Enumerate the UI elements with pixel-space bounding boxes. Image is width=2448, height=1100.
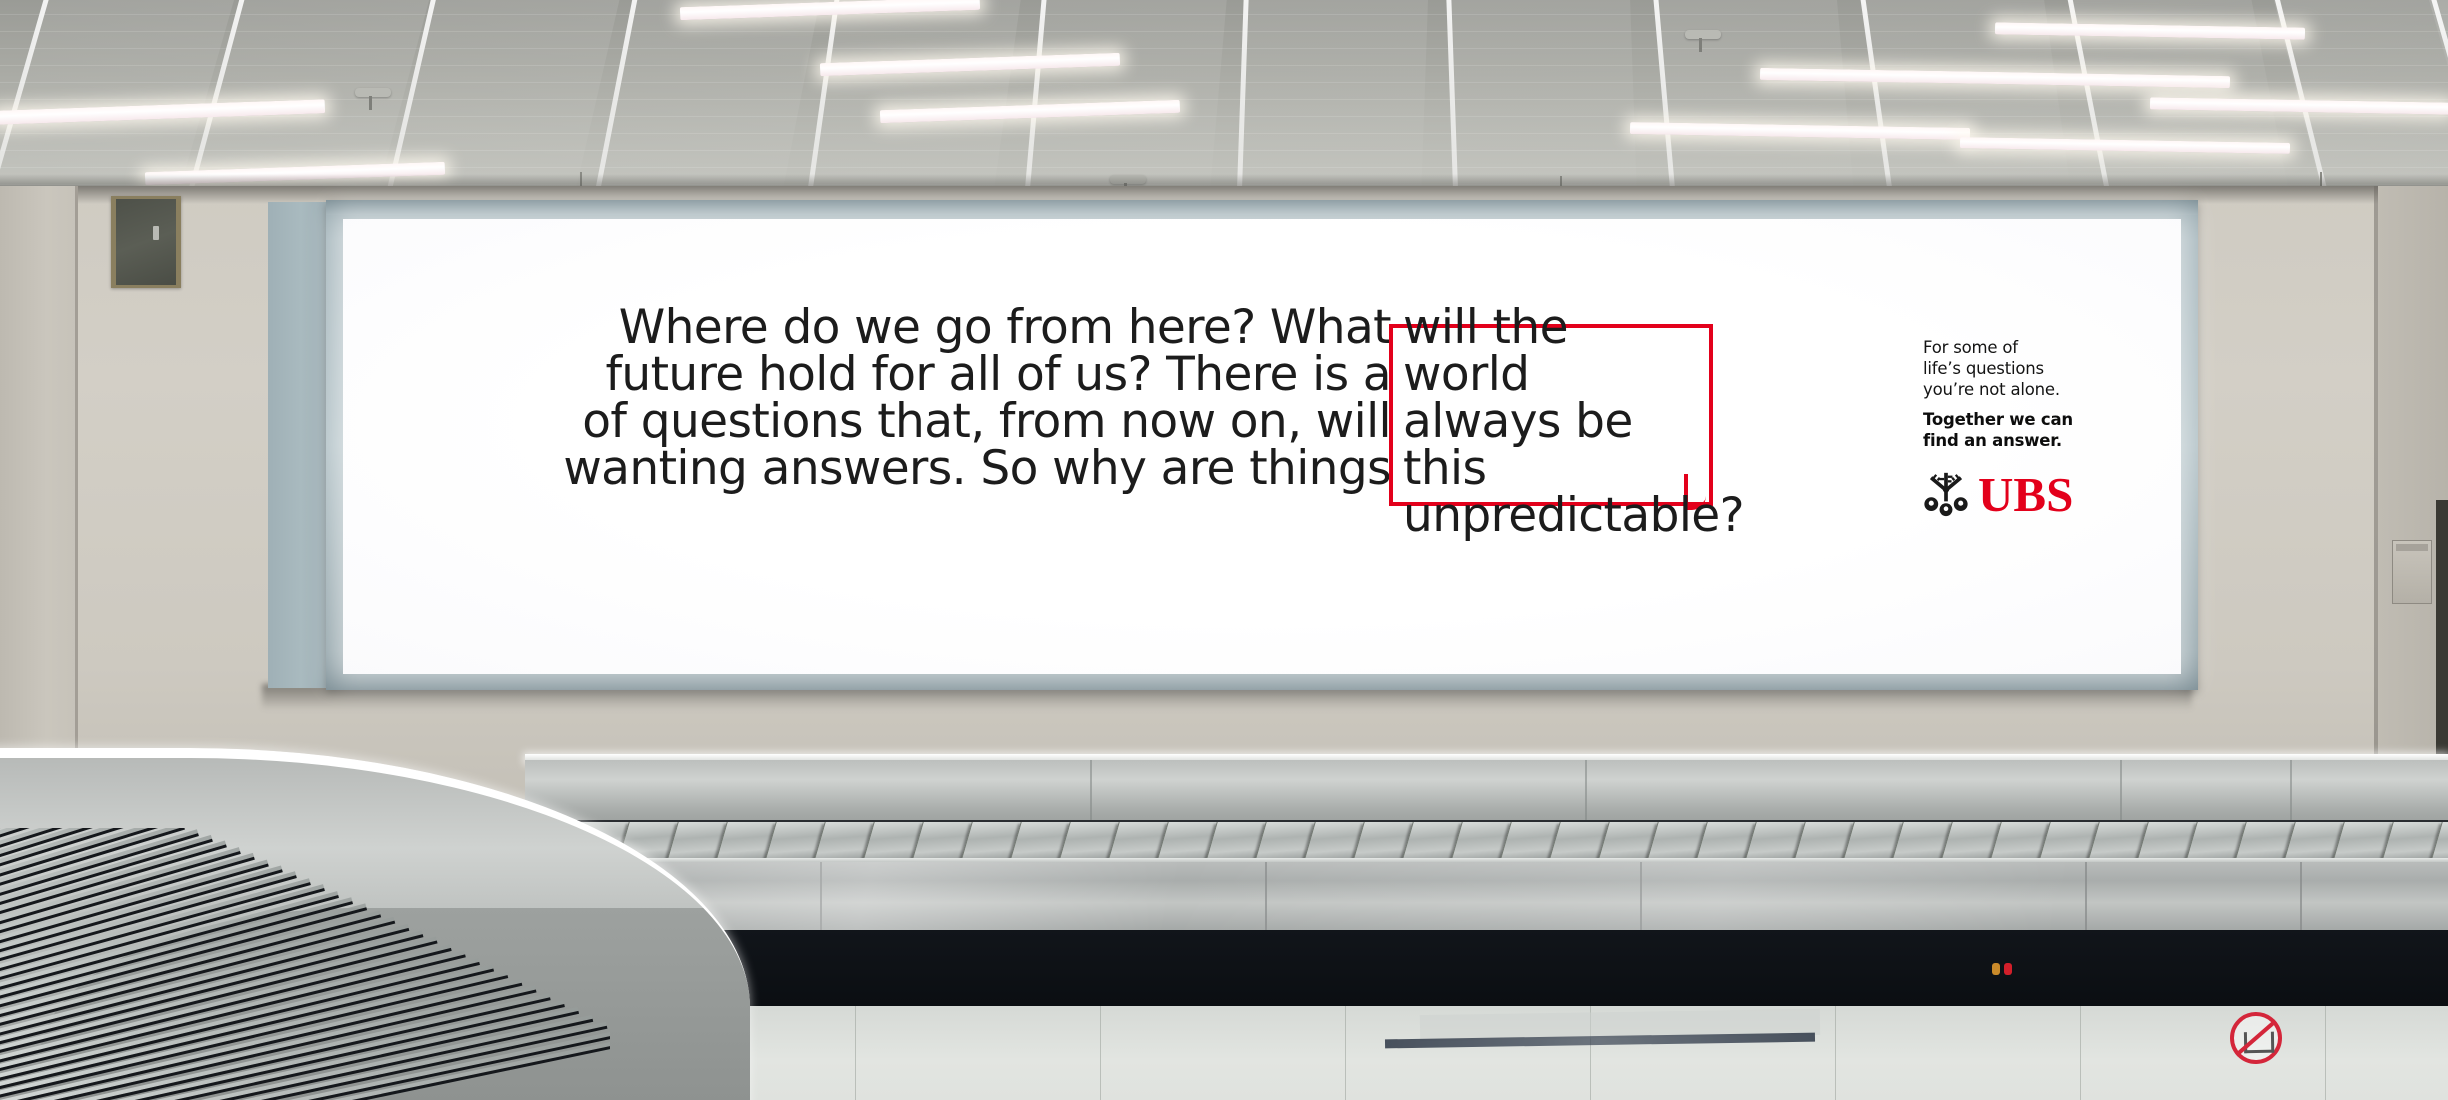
carousel-inner-seam bbox=[2290, 760, 2292, 826]
carousel-status-lights bbox=[1992, 963, 2014, 975]
hatch-latch-icon bbox=[153, 226, 159, 240]
floor-tile-seam bbox=[2325, 1000, 2326, 1100]
service-hatch bbox=[111, 196, 181, 288]
status-light-red bbox=[2004, 963, 2012, 975]
ceiling-panel-tint bbox=[1239, 0, 1429, 190]
floor-tile-seam bbox=[2080, 1000, 2081, 1100]
billboard-lightbox-panel: Where do we go from here? What future ho… bbox=[343, 219, 2181, 674]
ceiling bbox=[0, 0, 2448, 190]
wall-column-left bbox=[0, 186, 78, 826]
advert-main-copy: Where do we go from here? What future ho… bbox=[343, 304, 1391, 492]
wall-mounted-control-box bbox=[2392, 540, 2432, 604]
three-keys-icon bbox=[1923, 471, 1969, 517]
billboard-side-return bbox=[268, 202, 328, 688]
ubs-tagline-light: For some of life’s questions you’re not … bbox=[1923, 337, 2153, 400]
carousel-inner-seam bbox=[1585, 760, 1587, 826]
carousel-panel-seam bbox=[820, 862, 822, 936]
floor-tile-seam bbox=[1835, 1000, 1836, 1100]
billboard-frame: Where do we go from here? What future ho… bbox=[326, 200, 2198, 690]
ceiling-panel-tint bbox=[806, 0, 1023, 190]
carousel-panel-seam bbox=[1640, 862, 1642, 936]
carousel-inner-seam bbox=[2120, 760, 2122, 826]
ceiling-panel-tint bbox=[1025, 0, 1229, 190]
carousel-panel-seam bbox=[2300, 862, 2302, 936]
carousel-curved-slats bbox=[0, 828, 610, 1100]
carousel-inner-seam bbox=[1090, 760, 1092, 826]
carousel-inner-wall bbox=[525, 760, 2448, 826]
billboard-frame-top-face bbox=[326, 200, 2198, 215]
carousel-panel-seam bbox=[1265, 862, 1267, 936]
carousel-panel-seam bbox=[2085, 862, 2087, 936]
service-hatch-panel bbox=[116, 199, 176, 285]
wall-corner-right bbox=[2374, 186, 2378, 826]
ceiling-panel-tint bbox=[1654, 0, 1858, 190]
floor-tile-seam bbox=[1345, 1000, 1346, 1100]
carousel-skirt bbox=[525, 930, 2448, 1006]
ceiling-spotlight bbox=[355, 88, 391, 97]
ubs-wordmark: UBS bbox=[1978, 470, 2073, 519]
airport-baggage-hall-scene: Where do we go from here? What future ho… bbox=[0, 0, 2448, 1100]
ceiling-spotlight bbox=[1685, 30, 1721, 39]
floor-tile-seam bbox=[1100, 1000, 1101, 1100]
ubs-brand-lockup: For some of life’s questions you’re not … bbox=[1923, 337, 2153, 519]
ubs-logo-row: UBS bbox=[1923, 470, 2153, 519]
status-light-amber bbox=[1992, 963, 2000, 975]
floor-tile-seam bbox=[855, 1000, 856, 1100]
ceiling-panel-tint bbox=[1449, 0, 1639, 190]
advert-highlight-copy: will the world always be this unpredicta… bbox=[1403, 304, 1743, 539]
carousel-front-panel bbox=[525, 862, 2448, 936]
ubs-tagline-bold: Together we can find an answer. bbox=[1923, 409, 2153, 451]
